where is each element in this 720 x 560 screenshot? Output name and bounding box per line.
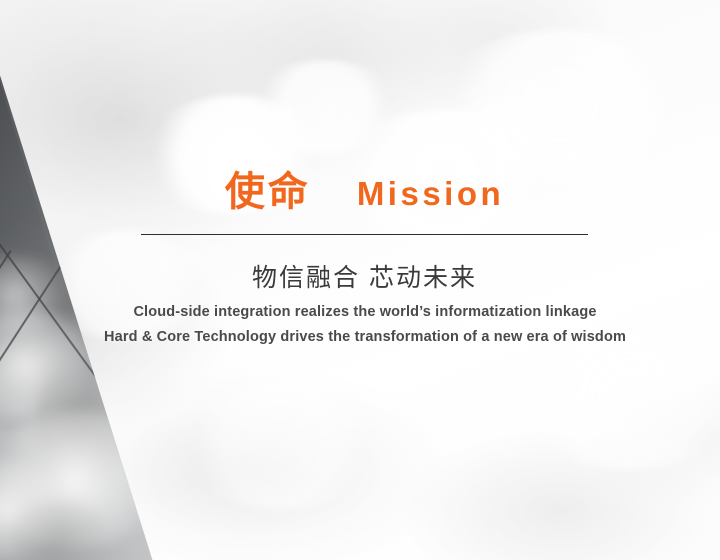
banner-title: 使命 Mission	[141, 172, 588, 212]
description-line: Hard & Core Technology drives the transf…	[60, 325, 670, 350]
description-line: Cloud-side integration realizes the worl…	[60, 300, 670, 325]
title-divider	[141, 234, 588, 235]
banner-subtitle: 物信融合 芯动未来	[141, 258, 588, 294]
title-chinese: 使命	[225, 172, 311, 212]
title-english: Mission	[357, 177, 504, 210]
banner-content: 使命 Mission 物信融合 芯动未来 Cloud-side integrat…	[0, 0, 720, 560]
banner-description: Cloud-side integration realizes the worl…	[60, 300, 670, 350]
mission-banner: 使命 Mission 物信融合 芯动未来 Cloud-side integrat…	[0, 0, 720, 560]
